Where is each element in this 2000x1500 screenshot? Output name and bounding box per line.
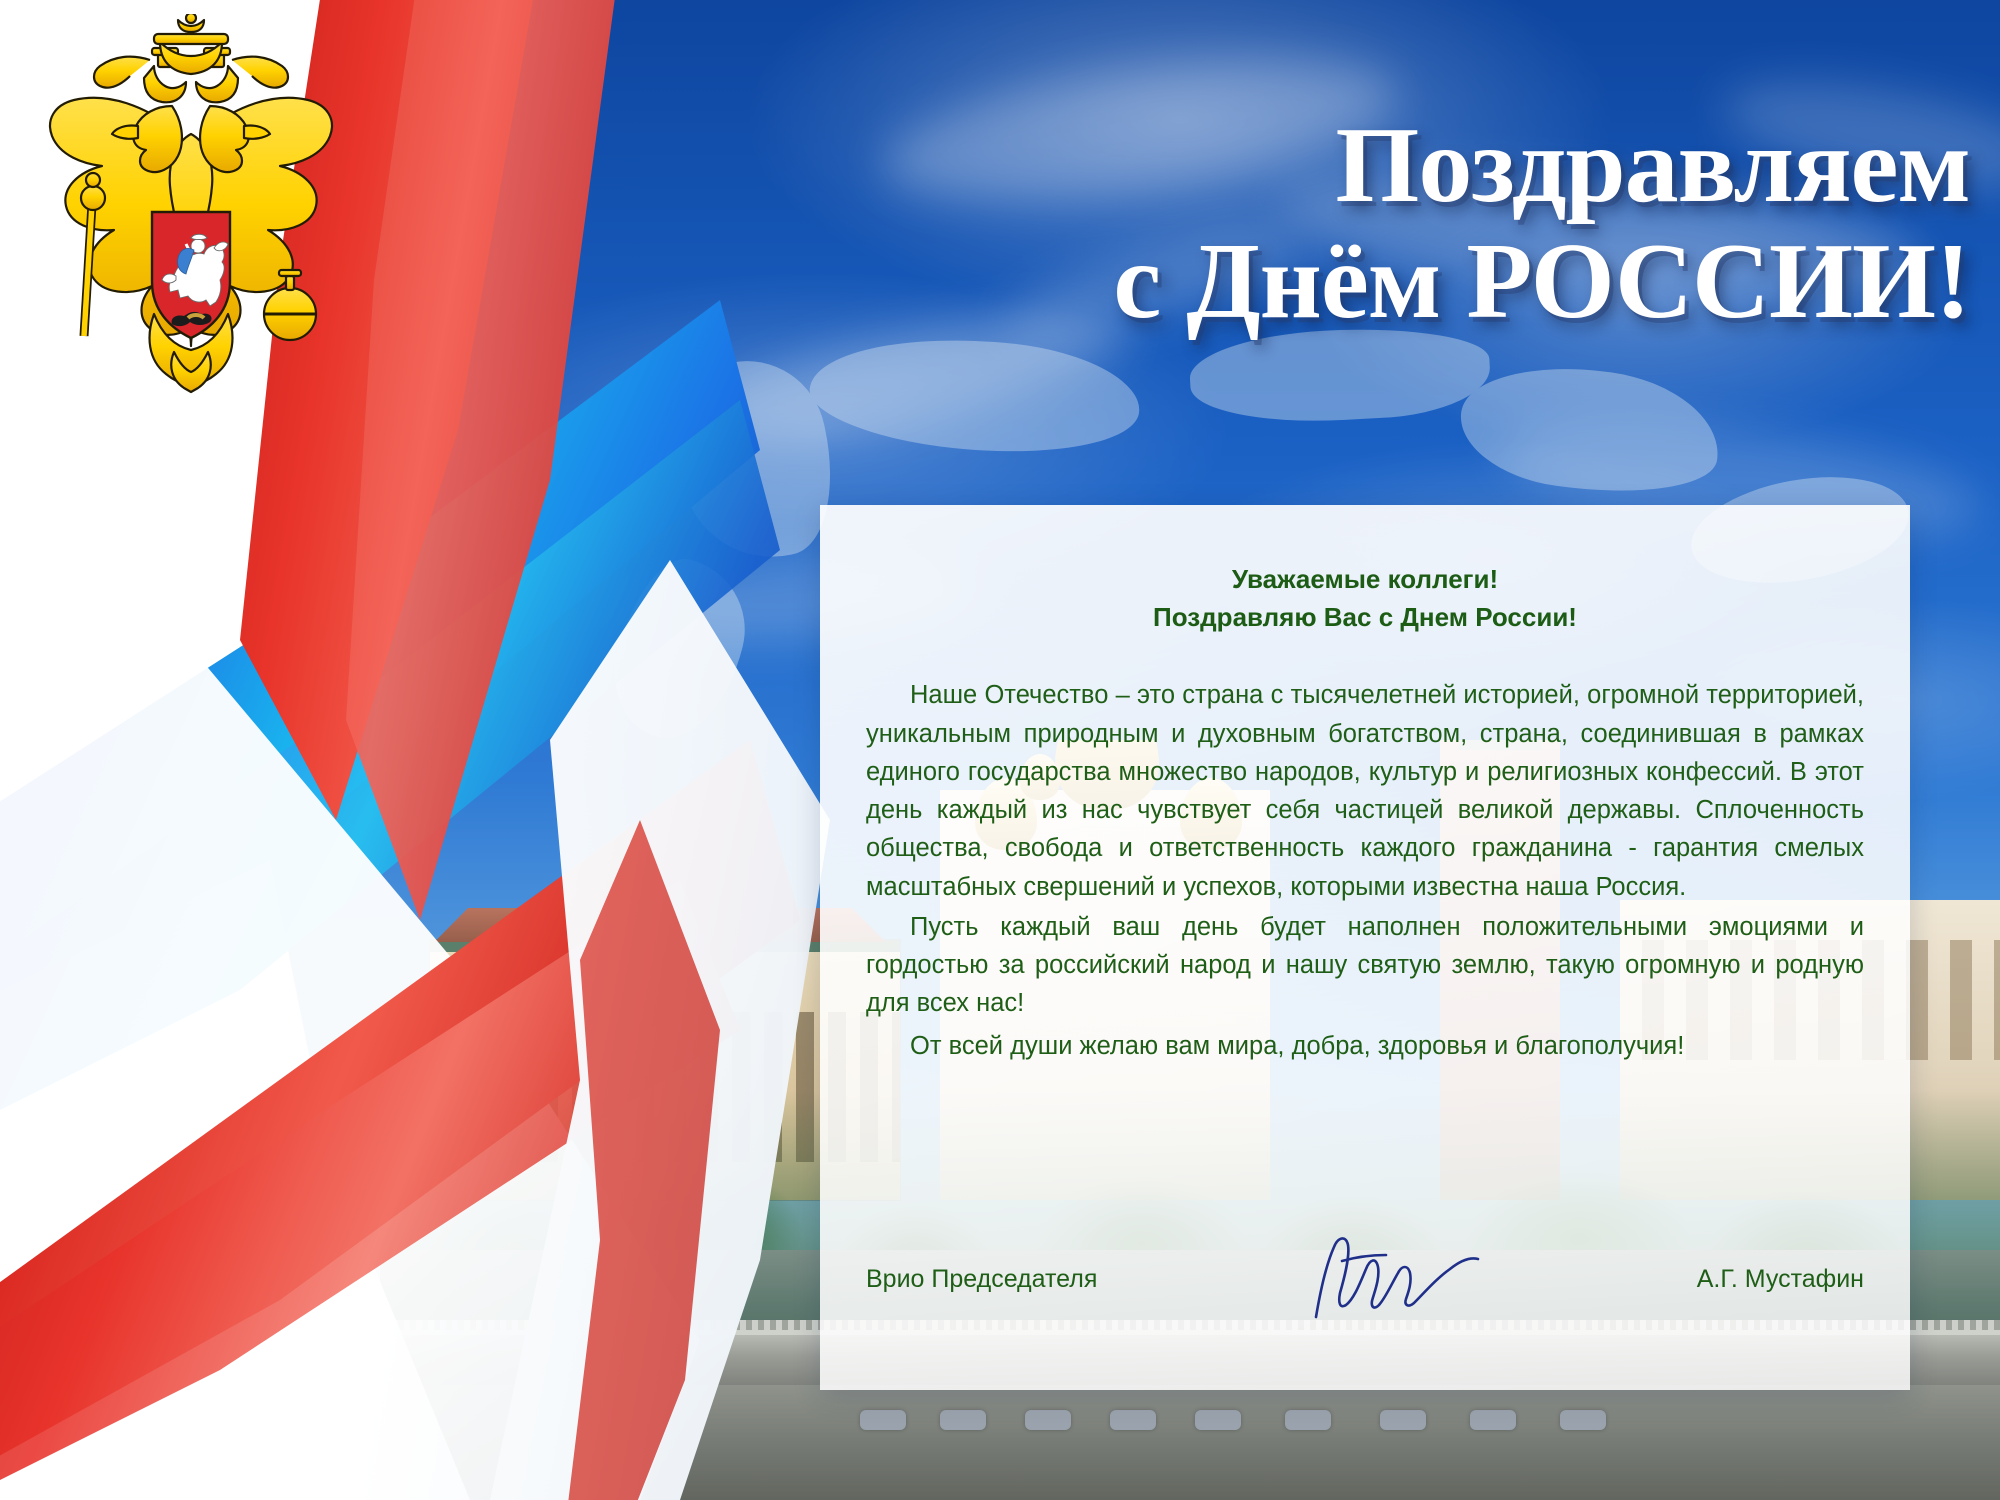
- paragraph-3: От всей души желаю вам мира, добра, здор…: [866, 1027, 1864, 1065]
- signature-block: Врио Председателя А.Г. Мустафин: [866, 1231, 1864, 1328]
- headline-line-2: с Днём РОССИИ!: [640, 228, 1970, 336]
- car: [940, 1410, 986, 1430]
- signature-title: Врио Председателя: [866, 1265, 1097, 1294]
- russian-coat-of-arms-emblem: Государственный герб Российской Федераци…: [26, 14, 356, 404]
- car: [1195, 1410, 1241, 1430]
- handwritten-signature-icon: [1302, 1231, 1492, 1328]
- car: [1470, 1410, 1516, 1430]
- landmass-shape: [1453, 352, 1727, 507]
- car: [1110, 1410, 1156, 1430]
- car: [1025, 1410, 1071, 1430]
- headline-line-1: Поздравляем: [640, 112, 1970, 220]
- car: [1285, 1410, 1331, 1430]
- page-title: Поздравляем с Днём РОССИИ!: [640, 112, 1970, 336]
- greeting-line-2: Поздравляю Вас с Днем России!: [866, 599, 1864, 637]
- russia-day-greeting-poster: Государственный герб Российской Федераци…: [0, 0, 2000, 1500]
- car: [1380, 1410, 1426, 1430]
- landmass-shape: [805, 323, 1145, 467]
- paragraph-2: Пусть каждый ваш день будет наполнен пол…: [866, 908, 1864, 1023]
- greeting-message-panel: Уважаемые коллеги! Поздравляю Вас с Днем…: [820, 505, 1910, 1390]
- paragraph-1: Наше Отечество – это страна с тысячелетн…: [866, 676, 1864, 906]
- car: [860, 1410, 906, 1430]
- signature-name: А.Г. Мустафин: [1697, 1265, 1864, 1294]
- greeting-heading: Уважаемые коллеги! Поздравляю Вас с Днем…: [866, 561, 1864, 636]
- greeting-line-1: Уважаемые коллеги!: [866, 561, 1864, 599]
- car: [1560, 1410, 1606, 1430]
- greeting-body-text: Наше Отечество – это страна с тысячелетн…: [866, 676, 1864, 1065]
